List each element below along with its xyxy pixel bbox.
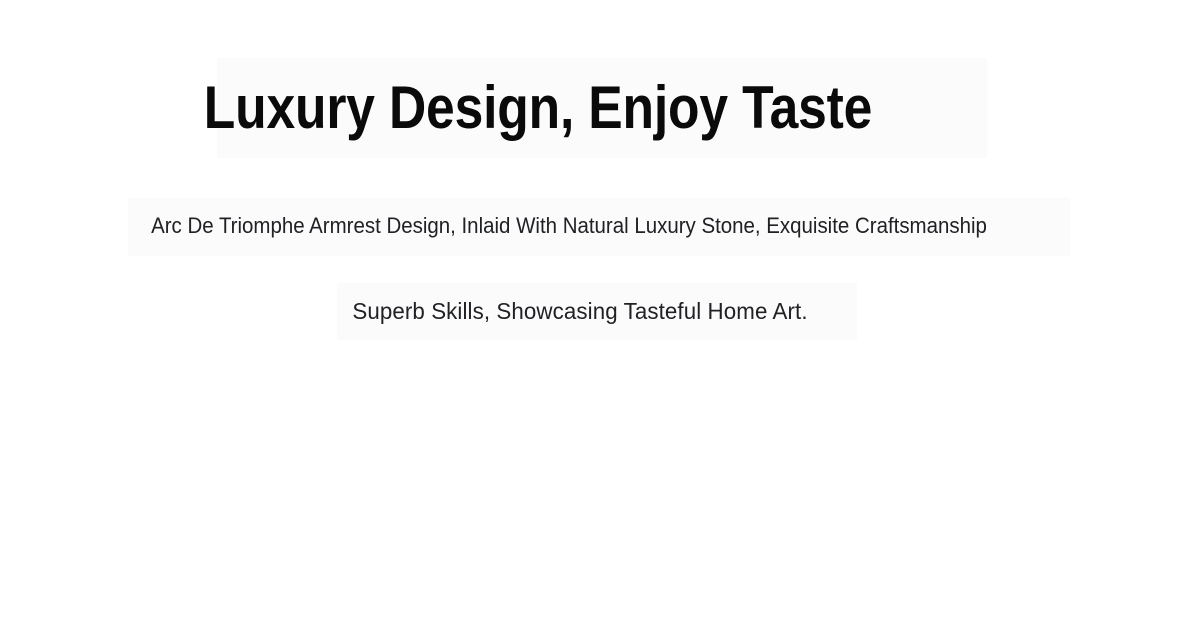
subline-1-text: Arc De Triomphe Armrest Design, Inlaid W… <box>11 209 1127 243</box>
promo-banner-canvas: Luxury Design, Enjoy Taste Arc De Triomp… <box>0 0 1200 640</box>
subline-2-text: Superb Skills, Showcasing Tasteful Home … <box>0 294 1162 328</box>
headline-text: Luxury Design, Enjoy Taste <box>22 66 1054 150</box>
